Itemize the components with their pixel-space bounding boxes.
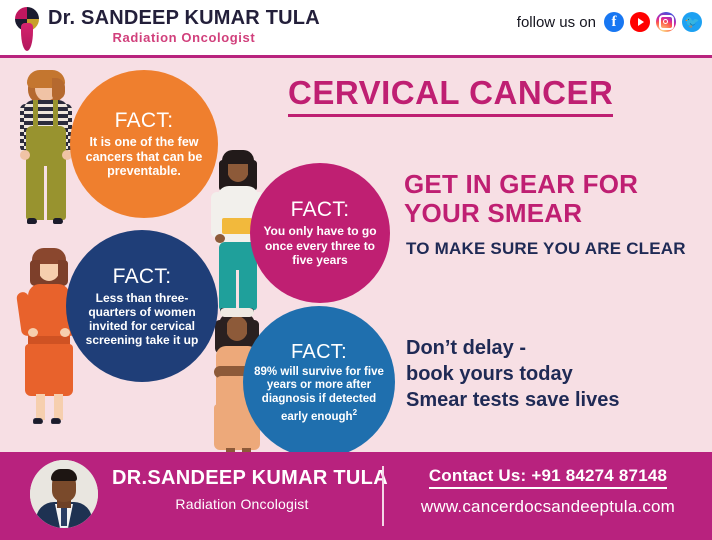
headline: GET IN GEAR FOR YOUR SMEAR [404, 170, 706, 228]
shoe-right [53, 218, 63, 224]
header-bar: Dr. SANDEEP KUMAR TULA Radiation Oncolog… [0, 0, 712, 58]
contact-phone[interactable]: Contact Us: +91 84274 87148 [429, 466, 667, 489]
follow-us-group: follow us on f 🐦 [517, 12, 702, 32]
shoe-left [33, 418, 43, 424]
cta-line-3: Smear tests save lives [406, 387, 706, 413]
fact-title: FACT: [291, 340, 347, 364]
shoe-right [51, 418, 61, 424]
footer-contact-info: Contact Us: +91 84274 87148 www.cancerdo… [398, 466, 698, 517]
follow-us-label: follow us on [517, 14, 596, 31]
fact-body: You only have to go once every three to … [250, 224, 390, 268]
brand-text: Dr. SANDEEP KUMAR TULA Radiation Oncolog… [48, 5, 320, 46]
ribbon-logo-icon [12, 5, 42, 53]
hand-left [215, 234, 225, 243]
subheadline: TO MAKE SURE YOU ARE CLEAR [406, 238, 706, 259]
logo-ribbon-tail-icon [21, 23, 33, 51]
overall-strap-right [53, 100, 58, 128]
footer-doctor-name: DR.SANDEEP KUMAR TULA [112, 466, 372, 490]
leg-left [226, 448, 235, 452]
fact-title: FACT: [291, 198, 350, 222]
overall-strap-left [33, 100, 38, 128]
hair-side [52, 78, 65, 100]
youtube-play-triangle-icon [638, 18, 644, 26]
woman-olive-overalls-illustration [14, 70, 78, 240]
pant-gap [44, 166, 47, 220]
fact-bubble-uptake: FACT: Less than three-quarters of women … [66, 230, 218, 382]
hair-right [58, 260, 68, 286]
fact-footnote-marker: 2 [353, 408, 357, 417]
fact-title: FACT: [115, 109, 174, 133]
call-to-action: Don’t delay - book yours today Smear tes… [406, 335, 706, 413]
book-icon [222, 218, 252, 234]
avatar-tie [61, 506, 67, 526]
cervical-cancer-poster: Dr. SANDEEP KUMAR TULA Radiation Oncolog… [0, 0, 712, 540]
fact-title: FACT: [113, 265, 172, 289]
shoe-left [27, 218, 37, 224]
instagram-icon[interactable] [656, 12, 676, 32]
avatar [30, 460, 98, 528]
fact-body: 89% will survive for five years or more … [243, 366, 395, 425]
brand: Dr. SANDEEP KUMAR TULA Radiation Oncolog… [12, 5, 320, 53]
brand-subtitle: Radiation Oncologist [48, 30, 320, 46]
hand-left [20, 150, 30, 160]
youtube-icon[interactable] [630, 12, 650, 32]
instagram-camera-icon [659, 15, 674, 30]
avatar-hair [51, 469, 77, 481]
leg-right [242, 448, 251, 452]
poster-body: FACT: It is one of the few cancers that … [0, 58, 712, 452]
fact-bubble-survival: FACT: 89% will survive for five years or… [243, 306, 395, 452]
footer-divider [382, 466, 384, 526]
skirt [25, 344, 73, 396]
headband [220, 308, 254, 317]
website-url[interactable]: www.cancerdocsandeeptula.com [398, 497, 698, 517]
twitter-icon[interactable]: 🐦 [682, 12, 702, 32]
hair-left [30, 260, 40, 286]
footer-bar: DR.SANDEEP KUMAR TULA Radiation Oncologi… [0, 452, 712, 540]
page-title: CERVICAL CANCER [288, 74, 613, 117]
fact-bubble-preventable: FACT: It is one of the few cancers that … [70, 70, 218, 218]
footer-doctor-role: Radiation Oncologist [112, 496, 372, 512]
contact-line-wrap: Contact Us: +91 84274 87148 [398, 466, 698, 489]
fact-body: It is one of the few cancers that can be… [70, 135, 218, 179]
fact-body-text: 89% will survive for five years or more … [254, 366, 384, 423]
cta-line-2: book yours today [406, 361, 706, 387]
belt [28, 336, 70, 344]
cta-line-1: Don’t delay - [406, 335, 706, 361]
facebook-icon[interactable]: f [604, 12, 624, 32]
footer-doctor-info: DR.SANDEEP KUMAR TULA Radiation Oncologi… [112, 466, 372, 512]
hand-left [28, 328, 38, 337]
head [226, 316, 248, 341]
fact-bubble-frequency: FACT: You only have to go once every thr… [250, 163, 390, 303]
fact-body: Less than three-quarters of women invite… [66, 291, 218, 347]
leg-right [54, 394, 63, 420]
brand-name: Dr. SANDEEP KUMAR TULA [48, 7, 320, 29]
leg-left [36, 394, 45, 420]
